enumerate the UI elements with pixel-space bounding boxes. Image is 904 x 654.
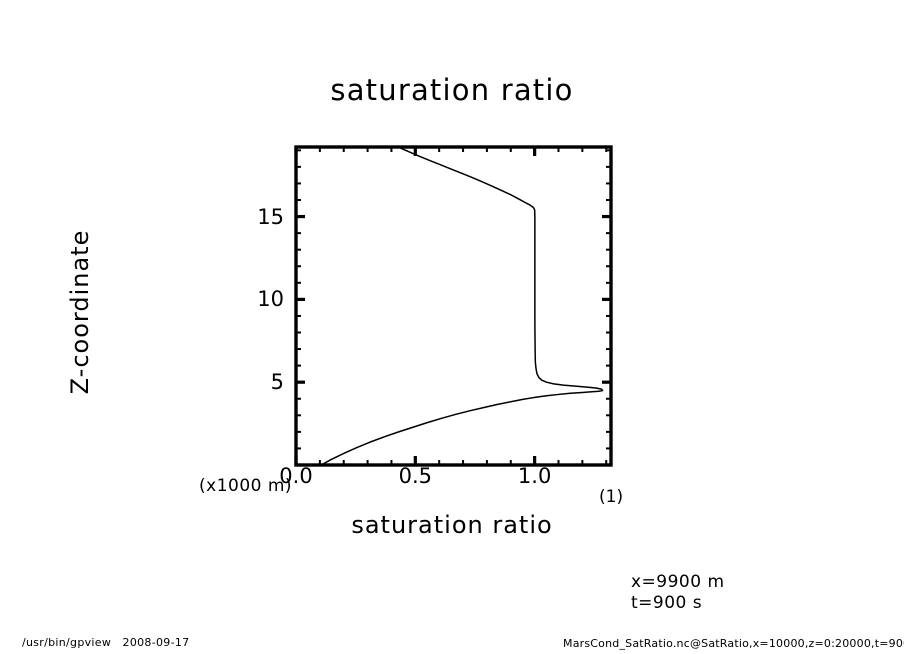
- plot-canvas: saturation ratio Z-coordinate saturation…: [0, 0, 904, 654]
- plot-frame: [296, 147, 611, 465]
- data-curve: [321, 148, 603, 465]
- y-axis-title: Z-coordinate: [68, 162, 92, 462]
- x-tick-label: 1.0: [495, 466, 575, 487]
- x-axis-title: saturation ratio: [0, 513, 904, 537]
- x-tick-label: 0.0: [256, 466, 336, 487]
- y-tick-label: 15: [224, 207, 284, 228]
- y-tick-label: 5: [224, 372, 284, 393]
- footer-program-info: /usr/bin/gpview 2008-09-17: [22, 637, 189, 648]
- footer-data-source: MarsCond_SatRatio.nc@SatRatio,x=10000,z=…: [563, 638, 904, 649]
- annotation-x-position: x=9900 m: [631, 574, 725, 591]
- annotation-time: t=900 s: [631, 595, 702, 612]
- axis-ticks: [296, 147, 611, 465]
- page-title: saturation ratio: [0, 76, 904, 105]
- x-tick-label: 0.5: [375, 466, 455, 487]
- y-tick-label: 10: [224, 289, 284, 310]
- x-unit-note: (1): [599, 489, 623, 506]
